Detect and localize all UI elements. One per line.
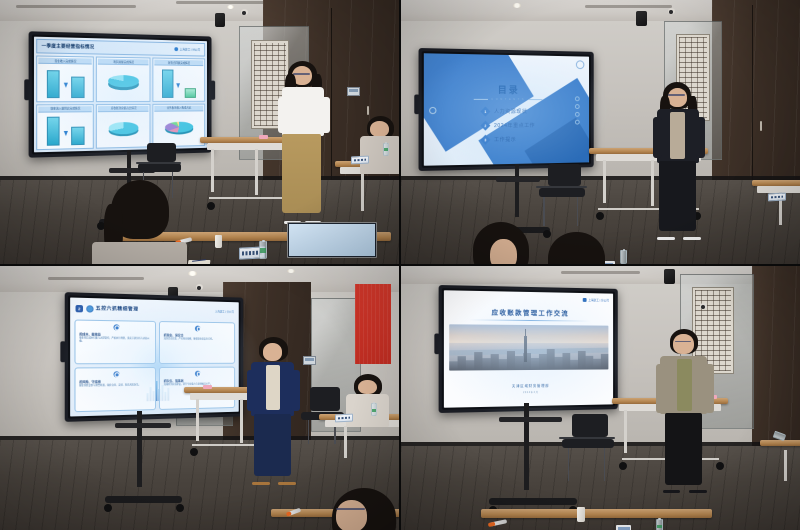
- water-bottle: [259, 241, 267, 259]
- trousers: [665, 413, 702, 485]
- door-seam: [752, 5, 753, 200]
- chair-seat: [138, 163, 180, 172]
- bottle-cap: [623, 249, 626, 251]
- office-chair[interactable]: [533, 164, 593, 227]
- wall-display-screen[interactable]: 目录 CONTENTS 1 人力资源现状: [418, 48, 593, 171]
- display-side-mount: [210, 81, 215, 100]
- agenda-item: 3 工作提示: [482, 136, 535, 144]
- number-text: 3: [484, 138, 486, 142]
- dashboard-card: 新签合同额完成情况: [153, 58, 205, 102]
- water-bottle: [620, 250, 627, 264]
- agenda-item-label: 人力资源现状: [494, 108, 527, 115]
- agenda-list: 1 人力资源现状 2 2024年重点工作 3 工作提示: [482, 108, 535, 143]
- name-placard: [768, 192, 786, 201]
- content-card: 控成本、提效益 强化项目成本归集与过程管控，严格执行预算，落实节超分析与动态纠偏…: [74, 319, 156, 364]
- trousers: [254, 414, 291, 476]
- dashboard-header: 一季度主要经营指标情况 上海建工 | 分公司: [36, 39, 205, 57]
- bottle-cap: [262, 240, 265, 242]
- agenda-item-label: 2024年重点工作: [494, 122, 535, 129]
- bar: [46, 70, 59, 98]
- eyeglasses-icon: [668, 94, 685, 96]
- trousers: [282, 134, 322, 213]
- section-badge: 2: [75, 305, 82, 312]
- head: [336, 500, 367, 530]
- wall-sign: [303, 356, 316, 365]
- head: [668, 88, 687, 107]
- name-placard: [351, 155, 369, 164]
- head: [490, 239, 516, 264]
- water-bottle: [371, 403, 377, 416]
- front-table: [481, 509, 712, 530]
- office-chair[interactable]: [557, 414, 621, 483]
- seated-participant-front: [88, 180, 192, 264]
- display-side-mount: [24, 80, 29, 100]
- desk-top: [752, 180, 800, 186]
- chair-leg: [577, 197, 578, 226]
- trend-down-icon: [64, 83, 68, 88]
- conference-room-scene: 2 五控六抓精细管理 上海建工 | 分公司: [0, 266, 399, 530]
- blouse: [282, 87, 324, 136]
- ceiling-downlight: [287, 269, 295, 273]
- desk-leg: [624, 410, 627, 453]
- display-stand: [104, 411, 184, 511]
- card-icon: [195, 325, 201, 331]
- torso: [346, 394, 390, 427]
- agenda-title: 目录: [498, 83, 520, 96]
- shoe: [689, 490, 707, 493]
- conference-room-scene: 一季度主要经营指标情况 上海建工 | 分公司 营业收入完成情况: [0, 0, 399, 264]
- card-body: [38, 112, 92, 148]
- skyline: [449, 338, 608, 371]
- chair-seat: [539, 188, 586, 197]
- ceiling-speaker: [215, 13, 225, 27]
- desk-caster: [619, 462, 627, 470]
- shoe: [278, 482, 296, 485]
- collage-panel-top-left: 一季度主要经营指标情况 上海建工 | 分公司 营业收入完成情况: [0, 0, 399, 264]
- ceiling-slot: [48, 277, 144, 280]
- trend-down-icon: [64, 131, 68, 136]
- slide-title: 五控六抓精细管理: [96, 306, 139, 313]
- rule: [529, 99, 543, 100]
- bar: [184, 88, 196, 98]
- photo-collage: 一季度主要经营指标情况 上海建工 | 分公司 营业收入完成情况: [0, 0, 800, 530]
- standing-presenter: [243, 337, 303, 485]
- trousers: [659, 161, 696, 231]
- card-icon: [113, 371, 119, 377]
- card-icon: [113, 324, 119, 330]
- laptop-screen: [287, 222, 377, 258]
- head: [673, 334, 693, 354]
- dashboard-grid: 营业收入完成情况 利润总额完成情况: [36, 56, 205, 151]
- desk-leg: [344, 426, 347, 459]
- seated-participant-front: [311, 488, 399, 530]
- chair-back: [310, 387, 340, 410]
- dashboard-card: 现金流入量同比完成情况: [36, 104, 94, 151]
- bar: [71, 77, 84, 98]
- shoe: [657, 237, 675, 240]
- standing-presenter: [652, 329, 716, 493]
- inner-top: [266, 365, 280, 409]
- display-panel: 上海建工 | 分公司 应收账款管理工作交流: [444, 290, 613, 408]
- pink-note: [259, 135, 268, 139]
- slide-title-page: 上海建工 | 分公司 应收账款管理工作交流: [444, 290, 613, 408]
- agenda-item-label: 工作提示: [494, 136, 516, 143]
- brand-logo-icon: [174, 47, 178, 51]
- water-bottle: [656, 519, 663, 530]
- chair-back: [572, 414, 608, 437]
- slide-dashboard: 一季度主要经营指标情况 上海建工 | 分公司 营业收入完成情况: [34, 37, 207, 153]
- chair-leg: [568, 448, 569, 481]
- name-placard: [335, 413, 353, 422]
- desk-caster: [207, 202, 215, 210]
- card-title: 控成本、提效益: [79, 332, 152, 337]
- dashboard-brand: 上海建工 | 分公司: [174, 47, 200, 51]
- agenda-subtitle-row: CONTENTS: [474, 98, 543, 101]
- door-handle[interactable]: [367, 106, 369, 115]
- chair-arm: [536, 186, 586, 188]
- collage-panel-bottom-right: 上海建工 | 分公司 应收账款管理工作交流: [401, 266, 800, 530]
- card-text: 健全风险识别与预警机制，强化合同、法律、税务风险防范。: [79, 384, 152, 388]
- eyeglasses-icon: [336, 508, 365, 510]
- inner-top: [677, 359, 692, 411]
- desk-leg: [196, 399, 199, 440]
- stand-base: [105, 496, 182, 503]
- content-card: 控风险、守底线 健全风险识别与预警机制，强化合同、法律、税务风险防范。: [74, 367, 156, 413]
- desk-top: [760, 440, 800, 446]
- desk-leg: [255, 149, 258, 195]
- card-text: 加快资金回笼，严控两金规模，确保现金流安全可控。: [164, 338, 231, 342]
- stand-caster: [104, 504, 112, 512]
- brand-text: 上海建工 | 分公司: [588, 299, 609, 303]
- dashboard-card: 利润总额完成情况: [96, 57, 151, 102]
- slide-brand: 上海建工 | 分公司: [582, 298, 608, 302]
- card-title: 抓现金、保安全: [164, 333, 231, 338]
- stand-shelf: [499, 417, 562, 422]
- dashboard-card: 业务板块收入构成占比: [153, 104, 205, 148]
- dashboard-title: 一季度主要经营指标情况: [41, 43, 94, 50]
- bottle-label: [384, 148, 388, 151]
- desk-top: [481, 509, 712, 518]
- ceiling-downlight: [188, 271, 197, 276]
- display-side-mount: [60, 341, 65, 362]
- organization-name: 天津区域财务管理部: [512, 383, 550, 388]
- desk-leg: [361, 173, 364, 211]
- paper-cup: [577, 507, 585, 522]
- water-bottle: [383, 143, 389, 156]
- slide-agenda: 目录 CONTENTS 1 人力资源现状: [424, 53, 589, 165]
- agenda-item: 2 2024年重点工作: [482, 122, 535, 129]
- ceiling-slot: [561, 271, 641, 274]
- pie-chart: [108, 75, 139, 87]
- head: [358, 380, 377, 395]
- ceiling-speaker: [664, 269, 675, 284]
- card-title: 抓队伍、强基础: [164, 378, 231, 383]
- standing-presenter: [271, 61, 335, 225]
- wall-display-screen[interactable]: 一季度主要经营指标情况 上海建工 | 分公司 营业收入完成情况: [28, 32, 211, 159]
- chair-leg: [604, 448, 605, 481]
- stand-shelf: [115, 423, 171, 428]
- number-text: 1: [484, 109, 486, 113]
- shoe: [683, 237, 701, 240]
- seated-participant-left: [457, 222, 545, 264]
- city-skyline-photo: [449, 324, 608, 371]
- ceiling-downlight: [513, 3, 521, 8]
- card-body: [155, 112, 203, 146]
- brand-logo-icon: [582, 298, 586, 302]
- arm: [278, 97, 287, 133]
- trend-down-icon: [176, 84, 180, 89]
- arm: [696, 117, 704, 158]
- bar: [71, 127, 84, 146]
- desk-leg: [603, 160, 606, 203]
- desk-caster: [716, 462, 724, 470]
- bottle-cap: [658, 518, 661, 520]
- landmark-tower: [524, 336, 527, 363]
- tissue-box: [616, 525, 631, 530]
- side-desk: [752, 180, 800, 238]
- dashboard-card: 营业收入完成情况: [36, 56, 94, 103]
- company-logo-icon: [85, 305, 92, 312]
- bottle-label: [657, 525, 662, 528]
- brand-text: 上海建工 | 分公司: [180, 48, 200, 52]
- ceiling-slot: [16, 5, 136, 8]
- security-camera-icon: [700, 303, 707, 309]
- chair-arm: [136, 162, 181, 164]
- stand-caster: [176, 504, 184, 512]
- agenda-item-number: 3: [480, 135, 490, 145]
- slide-header: 上海建工 | 分公司: [444, 290, 613, 308]
- ceiling-speaker: [636, 11, 647, 26]
- hair: [548, 232, 604, 264]
- bottle-cap: [373, 402, 375, 404]
- inner-top: [670, 112, 686, 160]
- shoe: [663, 490, 681, 493]
- card-body: [38, 64, 92, 100]
- agenda-item-number: 1: [480, 106, 490, 116]
- bottle-cap: [385, 142, 387, 144]
- bottle-label: [372, 409, 376, 412]
- security-camera-icon: [196, 284, 203, 290]
- presentation-date: 2024年4月: [523, 390, 539, 394]
- card-body: [98, 65, 149, 100]
- agenda-content: 目录 CONTENTS 1 人力资源现状: [424, 53, 589, 165]
- chair-back: [147, 143, 176, 163]
- arm: [321, 97, 330, 133]
- pink-note: [203, 385, 212, 389]
- bottle-label: [260, 248, 266, 252]
- display-side-mount: [414, 95, 419, 115]
- desk-caster: [596, 212, 604, 220]
- display-side-mount: [434, 334, 439, 355]
- ceiling: [0, 266, 399, 295]
- desk-caster: [190, 448, 198, 456]
- standing-presenter: [648, 82, 708, 240]
- desk-leg: [240, 399, 243, 443]
- head: [263, 343, 282, 361]
- ceiling-slot: [585, 5, 673, 8]
- display-panel: 目录 CONTENTS 1 人力资源现状: [424, 53, 589, 165]
- number-text: 2: [484, 123, 486, 127]
- title-rule: [469, 319, 590, 321]
- conference-room-scene: 上海建工 | 分公司 应收账款管理工作交流: [401, 266, 800, 530]
- red-banner: [355, 284, 391, 363]
- arm: [291, 370, 299, 411]
- eyeglasses-icon: [293, 73, 310, 75]
- bar: [46, 117, 59, 146]
- seated-participant-right: [351, 116, 399, 174]
- agenda-item-number: 2: [480, 121, 490, 131]
- security-camera-icon: [668, 8, 675, 14]
- agenda-item: 1 人力资源现状: [482, 108, 535, 115]
- slide-brand: 上海建工 | 分公司: [215, 310, 234, 314]
- display-panel: 一季度主要经营指标情况 上海建工 | 分公司 营业收入完成情况: [34, 37, 207, 153]
- arm: [653, 117, 661, 158]
- arm: [247, 370, 255, 411]
- chair-back: [548, 164, 580, 187]
- arm: [656, 364, 665, 413]
- chair-seat: [562, 439, 614, 449]
- content-card: 抓现金、保安全 加快资金回笼，严控两金规模，确保现金流安全可控。: [159, 321, 234, 364]
- seated-participant-left-2: [533, 232, 621, 264]
- collage-panel-top-right: 目录 CONTENTS 1 人力资源现状: [401, 0, 800, 264]
- stand-column: [515, 164, 519, 217]
- torso: [92, 242, 187, 264]
- card-body: [155, 66, 203, 100]
- stand-base: [489, 498, 577, 505]
- desk-leg: [784, 450, 787, 481]
- bar: [162, 70, 174, 98]
- rule: [474, 99, 488, 100]
- card-icon: [195, 371, 201, 377]
- slide-footer: 天津区域财务管理部 2024年4月: [444, 370, 613, 408]
- wall-sign: [347, 87, 360, 96]
- collage-panel-bottom-left: 2 五控六抓精细管理 上海建工 | 分公司: [0, 266, 399, 530]
- conference-room-scene: 目录 CONTENTS 1 人力资源现状: [401, 0, 800, 264]
- paper-cup: [215, 235, 222, 248]
- card-text: 强化项目成本归集与过程管控，严格执行预算，落实节超分析与动态纠偏。: [79, 337, 152, 344]
- laptop[interactable]: [287, 222, 375, 264]
- arm: [705, 364, 714, 413]
- card-title: 控风险、守底线: [79, 379, 152, 384]
- wall-display-screen[interactable]: 上海建工 | 分公司 应收账款管理工作交流: [438, 285, 617, 413]
- desk-leg: [211, 149, 214, 192]
- side-desk: [760, 440, 800, 493]
- shoe: [252, 482, 270, 485]
- slide-main-title: 应收账款管理工作交流: [444, 307, 613, 318]
- agenda-subtitle: CONTENTS: [491, 98, 526, 101]
- chair-arm: [559, 437, 615, 439]
- door-handle[interactable]: [760, 121, 762, 131]
- head: [370, 121, 389, 137]
- chair-leg: [308, 420, 309, 444]
